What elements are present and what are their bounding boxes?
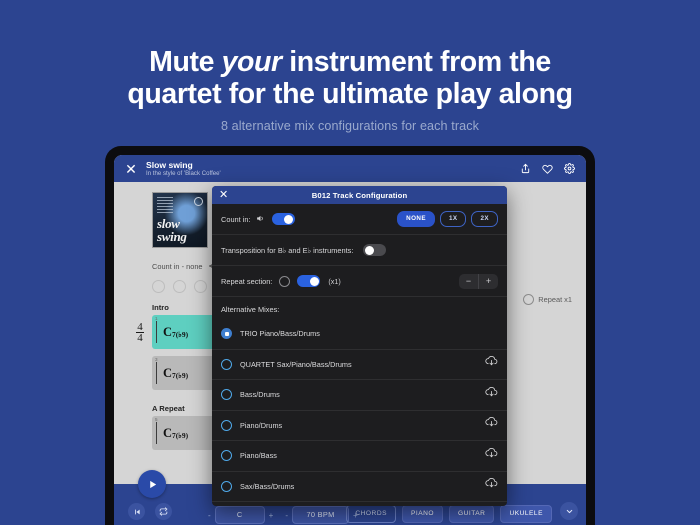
mix-radio[interactable] [221,389,232,400]
list-item[interactable]: Piano/Bass [212,441,507,472]
instrument-tags: CHORDS PIANO GUITAR UKULELE [346,505,552,523]
dialog-body: Count in: NONE 1X 2X Transposition for B… [212,204,507,506]
promo-page: Mute your instrument from the quartet fo… [0,0,700,525]
promo-headline-line1: Mute your instrument from the [0,46,700,78]
skip-back-button[interactable] [128,503,145,520]
repeat-note: Repeat x1 [523,294,572,305]
chevron-down-icon [565,507,574,516]
toggle-knob [310,277,319,286]
repeat-section-label: Repeat section: [221,277,272,286]
list-item[interactable]: TRIO Piano/Bass/Drums [212,319,507,350]
mix-label: Piano/Bass [240,451,277,460]
count-in-option-1x[interactable]: 1X [440,211,467,227]
loop-icon [159,507,168,516]
chord-label: C7(♭9) [163,325,188,340]
promo-headline-line2: quartet for the ultimate play along [0,78,700,110]
heart-icon[interactable] [542,163,553,174]
download-icon[interactable] [485,386,498,404]
promo-header: Mute your instrument from the quartet fo… [0,46,700,133]
repeat-decrement-button[interactable]: − [459,274,478,289]
close-icon[interactable]: ✕ [122,162,140,176]
list-item[interactable]: Sax/Bass/Drums [212,472,507,503]
mix-radio[interactable] [221,359,232,370]
key-increment[interactable]: + [269,511,274,520]
tag-guitar[interactable]: GUITAR [449,505,494,523]
bpm-decrement[interactable]: - [285,511,288,520]
tag-piano[interactable]: PIANO [402,505,443,523]
bar-number: 3 [155,357,158,362]
list-item[interactable]: Piano/Drums [212,411,507,442]
bar-line [156,362,157,384]
time-signature: 4 4 [132,315,148,349]
loop-button[interactable] [155,503,172,520]
toggle-knob [284,215,293,224]
repeat-count-value: (x1) [328,277,340,286]
mix-label: QUARTET Sax/Piano/Bass/Drums [240,360,352,369]
transposition-setting-row: Transposition for B♭ and E♭ instruments: [212,235,507,266]
promo-headline-emphasis: your [222,46,282,78]
toggle-knob [365,246,374,255]
promo-headline-part-a: Mute [149,46,221,78]
mix-radio[interactable] [221,481,232,492]
track-configuration-dialog: ✕ B012 Track Configuration Count in: NON… [212,186,507,506]
repeat-section-toggle[interactable] [297,275,320,287]
speaker-icon [256,210,265,228]
tablet-screen: ✕ Slow swing In the style of 'Black Coff… [114,155,586,525]
time-signature-top: 4 [137,322,143,332]
chord-label: C7(♭9) [163,426,188,441]
bar-line [156,422,157,444]
count-in-setting-row: Count in: NONE 1X 2X [212,204,507,235]
play-button[interactable] [138,470,166,498]
mix-radio[interactable] [221,450,232,461]
tag-ukulele[interactable]: UKULELE [500,505,552,523]
bpm-value[interactable]: 70 BPM [292,506,349,524]
download-icon[interactable] [485,447,498,465]
album-art-bars [157,197,173,215]
count-in-dot [173,280,186,293]
count-in-setting-label: Count in: [221,215,251,224]
count-in-dot [152,280,165,293]
time-signature-bottom: 4 [137,333,143,343]
count-in-label: Count in - none [152,262,203,271]
key-decrement[interactable]: - [208,511,211,520]
repeat-icon [279,276,290,287]
transport-settings: - C + - 70 BPM + [208,506,358,524]
repeat-note-label: Repeat x1 [538,295,572,304]
count-in-option-none[interactable]: NONE [397,211,435,227]
mix-label: Sax/Bass/Drums [240,482,294,491]
dialog-header: ✕ B012 Track Configuration [212,186,507,204]
transposition-label: Transposition for B♭ and E♭ instruments: [221,246,353,255]
mix-label: Bass/Drums [240,390,280,399]
bar-line [156,321,157,343]
mix-label: Piano/Drums [240,421,282,430]
mix-label: TRIO Piano/Bass/Drums [240,329,320,338]
app-top-bar: ✕ Slow swing In the style of 'Black Coff… [114,155,586,182]
repeat-stepper: − + [459,274,498,289]
repeat-section-row: Repeat section: (x1) − + [212,266,507,297]
page-subtitle: In the style of 'Black Coffee' [146,170,520,178]
mix-radio-selected[interactable] [221,328,232,339]
transposition-toggle[interactable] [363,244,386,256]
list-item[interactable]: Bass/Drums [212,380,507,411]
download-icon[interactable] [485,477,498,495]
count-in-option-2x[interactable]: 2X [471,211,498,227]
alternative-mixes-title: Alternative Mixes: [212,297,507,319]
chord-label: C7(♭9) [163,366,188,381]
play-icon [147,479,158,490]
download-icon[interactable] [485,416,498,434]
share-icon[interactable] [520,163,531,174]
tag-chords[interactable]: CHORDS [346,505,396,523]
album-art-word-2: swing [157,230,187,243]
count-in-toggle[interactable] [272,213,295,225]
page-title: Slow swing [146,160,520,170]
dialog-title: B012 Track Configuration [212,191,507,200]
key-value[interactable]: C [215,506,265,524]
promo-headline-part-b: instrument from the [282,46,551,78]
repeat-icon [523,294,534,305]
gear-icon[interactable] [564,163,575,174]
bar-number: 1 [155,316,158,321]
download-icon[interactable] [485,355,498,373]
transport-left-controls [128,503,172,520]
tablet-device: ✕ Slow swing In the style of 'Black Coff… [105,146,595,525]
app-bar-actions [520,163,578,174]
collapse-button[interactable] [560,502,578,520]
promo-subtitle: 8 alternative mix configurations for eac… [0,119,700,133]
repeat-increment-button[interactable]: + [479,274,498,289]
bar-number: 5 [155,417,158,422]
count-in-dot [194,280,207,293]
album-art: slow swing [152,192,208,248]
skip-back-icon [133,508,141,516]
app-title-group: Slow swing In the style of 'Black Coffee… [146,160,520,178]
list-item[interactable]: QUARTET Sax/Piano/Bass/Drums [212,350,507,381]
mix-radio[interactable] [221,420,232,431]
album-art-logo-dot [194,197,203,206]
